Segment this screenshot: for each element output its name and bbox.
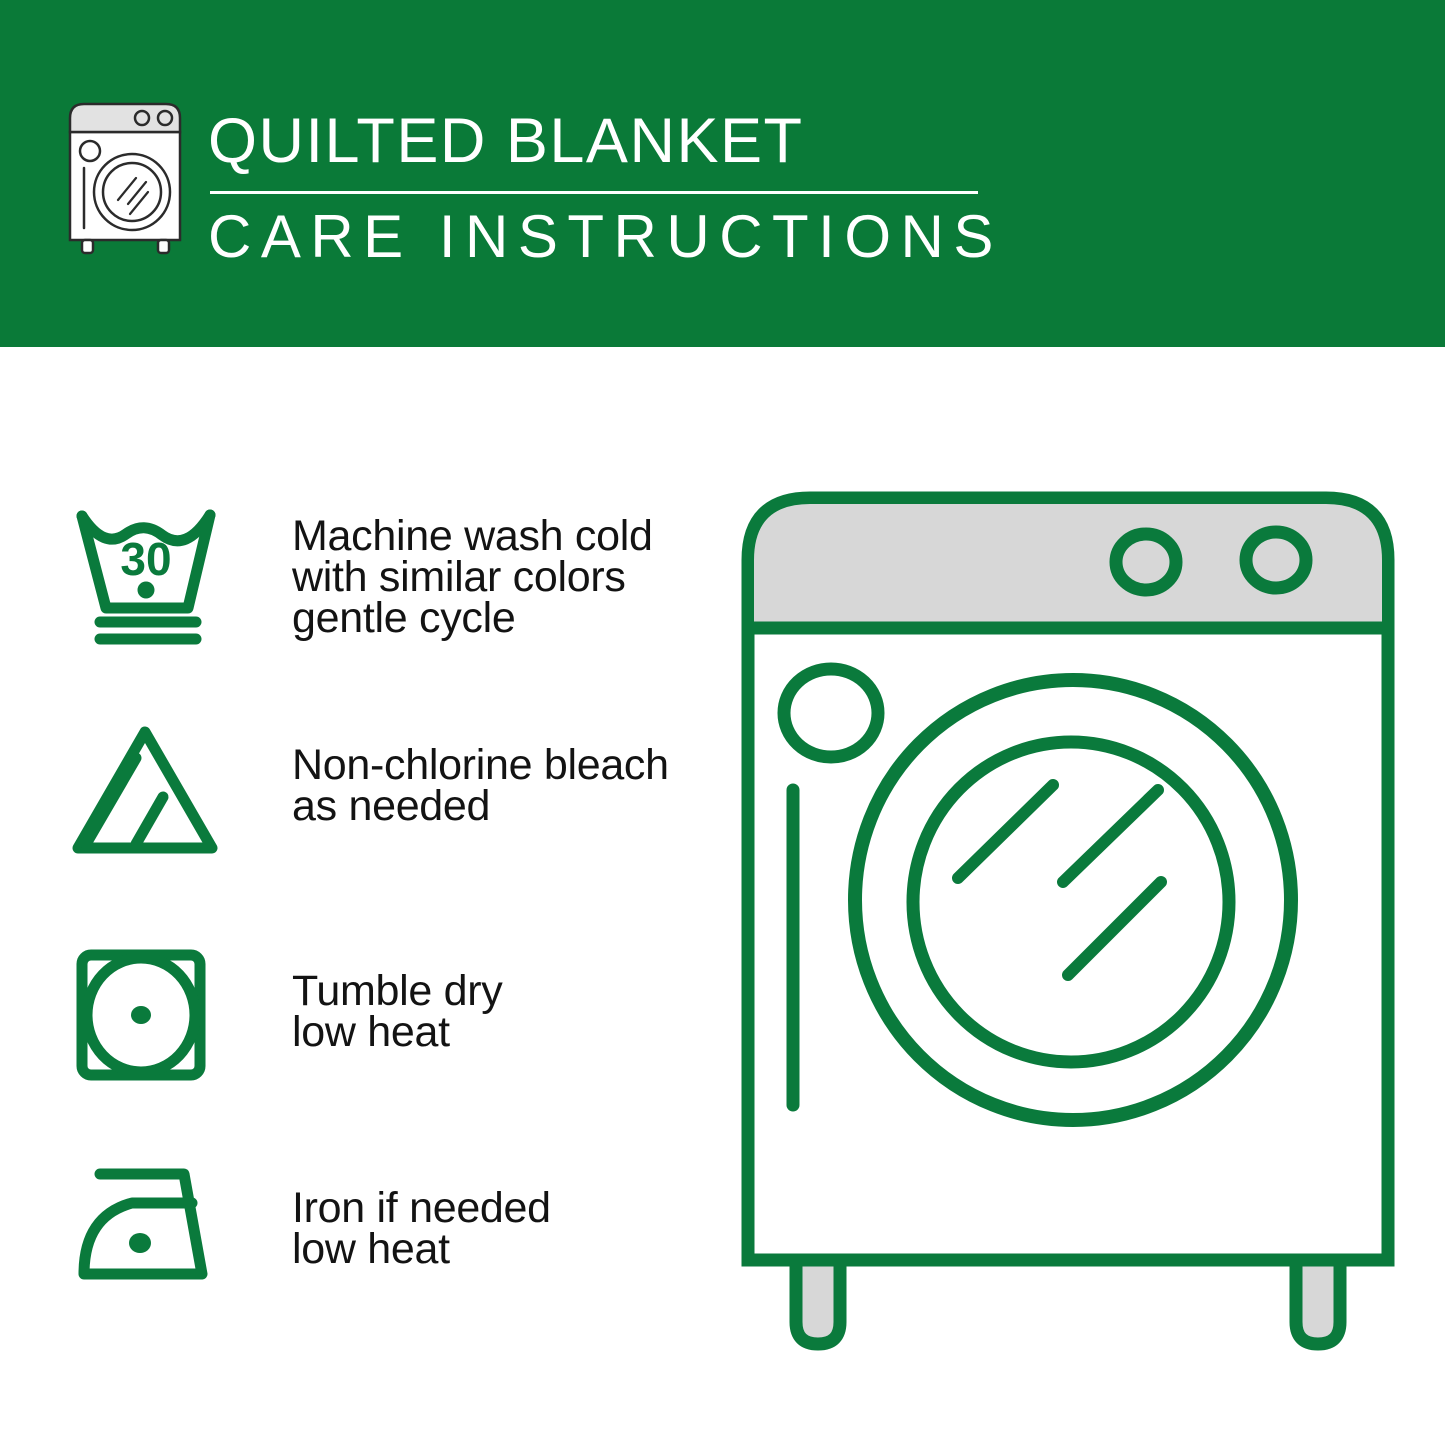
machine-leg-right	[1296, 1262, 1340, 1344]
control-panel	[754, 504, 1382, 628]
tumble-dry-icon	[70, 945, 230, 1085]
care-row-bleach: Non-chlorine bleach as needed	[70, 722, 690, 862]
care-text-line: with similar colors	[292, 557, 653, 598]
care-instruction-list: 30 Machine wash cold with similar colors…	[0, 0, 700, 1445]
care-text-line: Tumble dry	[292, 971, 502, 1012]
care-text-machine-wash: Machine wash cold with similar colors ge…	[292, 500, 653, 639]
care-text-iron: Iron if needed low heat	[292, 1156, 551, 1270]
care-text-line: as needed	[292, 786, 669, 827]
care-text-line: Iron if needed	[292, 1188, 551, 1229]
wash-tub-30-icon: 30	[70, 500, 230, 650]
washing-machine-illustration	[718, 470, 1418, 1370]
wash-temperature-label: 30	[120, 533, 171, 585]
care-text-line: low heat	[292, 1012, 502, 1053]
care-row-machine-wash: 30 Machine wash cold with similar colors…	[70, 500, 690, 650]
care-text-line: low heat	[292, 1229, 551, 1270]
iron-icon	[70, 1156, 230, 1296]
machine-leg-left	[796, 1262, 840, 1344]
care-row-tumble-dry: Tumble dry low heat	[70, 945, 690, 1085]
care-text-line: gentle cycle	[292, 598, 653, 639]
care-text-tumble-dry: Tumble dry low heat	[292, 945, 502, 1053]
care-text-bleach: Non-chlorine bleach as needed	[292, 722, 669, 827]
care-text-line: Machine wash cold	[292, 516, 653, 557]
bleach-triangle-icon	[70, 722, 230, 862]
care-text-line: Non-chlorine bleach	[292, 745, 669, 786]
care-row-iron: Iron if needed low heat	[70, 1156, 690, 1296]
